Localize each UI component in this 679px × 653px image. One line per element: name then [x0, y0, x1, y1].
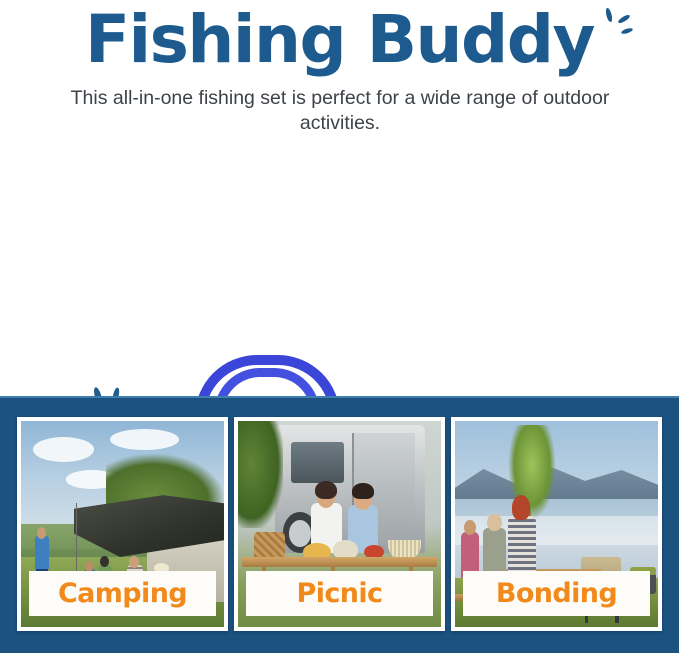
picnic-table — [242, 557, 437, 567]
woman-head — [512, 495, 530, 520]
seated-person-3-head — [129, 556, 138, 568]
product-hero-image: DaddyGofish DaddyGofish — [0, 150, 679, 396]
camping-label-banner: Camping — [29, 571, 216, 616]
van-window — [291, 442, 344, 483]
camping-photo: Camping — [21, 421, 224, 627]
band-top-accent-line — [0, 396, 679, 398]
cloud — [110, 429, 179, 450]
person-head — [487, 514, 501, 531]
product-infographic: Fishing Buddy This all-in-one fishing se… — [0, 0, 679, 653]
use-case-card-list: Camping — [17, 417, 662, 631]
title-splash-icon — [598, 6, 638, 46]
picnic-label: Picnic — [297, 580, 383, 608]
tree-foliage — [238, 421, 283, 528]
header-section: Fishing Buddy This all-in-one fishing se… — [0, 0, 679, 150]
bonding-label: Bonding — [496, 580, 617, 608]
woman-hair — [315, 481, 337, 500]
water-splash-left-icon — [76, 382, 134, 396]
use-case-card-picnic[interactable]: Picnic — [234, 417, 445, 631]
use-case-card-camping[interactable]: Camping — [17, 417, 228, 631]
standing-man-body — [35, 536, 49, 569]
use-cases-band: Camping — [0, 396, 679, 653]
picnic-label-banner: Picnic — [246, 571, 433, 616]
bonding-label-banner: Bonding — [463, 571, 650, 616]
picnic-photo: Picnic — [238, 421, 441, 627]
boy-hair — [352, 483, 373, 499]
page-title: Fishing Buddy — [0, 4, 679, 76]
title-wrap: Fishing Buddy — [0, 0, 679, 80]
van-hubcap — [289, 520, 311, 547]
camping-label: Camping — [58, 580, 187, 608]
page-subtitle: This all-in-one fishing set is perfect f… — [60, 86, 620, 136]
use-case-card-bonding[interactable]: Bonding — [451, 417, 662, 631]
bonding-photo: Bonding — [455, 421, 658, 627]
